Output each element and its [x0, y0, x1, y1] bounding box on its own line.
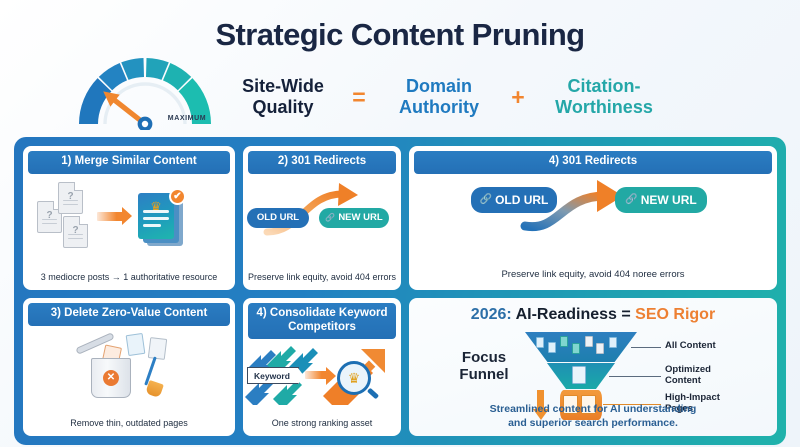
check-badge-icon: ✔: [169, 188, 186, 205]
broom-icon: [145, 380, 164, 398]
funnel-title-year: 2026:: [471, 306, 512, 323]
link-icon: 🔗: [325, 213, 335, 222]
old-url-pill[interactable]: 🔗 OLD URL: [471, 187, 557, 213]
quality-equation: Site-Wide Quality = Domain Authority + C…: [228, 68, 708, 126]
falling-page-icon: [148, 337, 167, 360]
gauge-illustration: MAXIMUM: [70, 58, 220, 130]
old-url-pill[interactable]: OLD URL: [247, 208, 309, 228]
card-301-redirects-small[interactable]: 2) 301 Redirects OLD URL 🔗 NEW URL Prese…: [243, 146, 401, 290]
mini-document-icon: [596, 343, 604, 354]
funnel-title-seo: SEO Rigor: [635, 306, 715, 323]
equation-term-domain-authority: Domain Authority: [380, 76, 498, 118]
equation-term-citation-worthiness: Citation- Worthiness: [538, 76, 670, 118]
card-delete-zero-value-content[interactable]: 3) Delete Zero-Value Content ✕ Remove th…: [23, 298, 235, 436]
new-url-label: NEW URL: [338, 212, 382, 223]
redirect-curve-arrow-icon: [409, 174, 777, 254]
link-icon: 🔗: [625, 194, 637, 205]
keyword-tag[interactable]: Keyword: [247, 367, 299, 384]
redirect-illustration-wide: 🔗 OLD URL 🔗 NEW URL: [409, 174, 777, 269]
keyword-consolidation-illustration: Keyword ♛: [243, 339, 401, 418]
card-title: 2) 301 Redirects: [248, 151, 396, 174]
consolidate-arrow-icon: [305, 371, 327, 379]
card-caption: Remove thin, outdated pages: [23, 418, 235, 436]
strategy-grid-container: 1) Merge Similar Content ? ? ? ♛ ✔: [14, 137, 786, 445]
redirect-illustration: OLD URL 🔗 NEW URL: [243, 174, 401, 273]
mini-document-icon: [585, 336, 593, 347]
card-title: 1) Merge Similar Content: [28, 151, 230, 174]
card-301-redirects-wide[interactable]: 4) 301 Redirects 🔗 OLD URL 🔗 NEW URL Pr: [409, 146, 777, 290]
mini-document-icon: [609, 337, 617, 348]
delete-illustration: ✕: [23, 326, 235, 419]
falling-page-icon: [126, 332, 146, 355]
card-title: 4) Consolidate Keyword Competitors: [248, 303, 396, 339]
doc-lines: [68, 234, 83, 242]
card-caption: Preserve link equity, avoid 404 noree er…: [409, 269, 777, 290]
delete-x-icon: ✕: [103, 370, 119, 386]
new-url-pill[interactable]: 🔗 NEW URL: [319, 208, 389, 228]
card-caption: One strong ranking asset: [243, 418, 401, 436]
crown-icon: ♛: [348, 370, 361, 387]
trash-bin-icon: ✕: [91, 358, 131, 398]
leader-line: [631, 347, 661, 348]
equation-term-site-wide-quality: Site-Wide Quality: [228, 76, 338, 118]
new-url-label: NEW URL: [641, 193, 697, 207]
card-title: 4) 301 Redirects: [414, 151, 772, 174]
link-icon: 🔗: [480, 194, 492, 205]
focus-funnel-label: Focus Funnel: [445, 350, 523, 383]
funnel-label-optimized-content: Optimized Content: [665, 365, 711, 387]
card-consolidate-keyword-competitors[interactable]: 4) Consolidate Keyword Competitors: [243, 298, 401, 436]
card-merge-similar-content[interactable]: 1) Merge Similar Content ? ? ? ♛ ✔: [23, 146, 235, 290]
card-caption: Preserve link equity, avoid 404 errors: [243, 272, 401, 290]
optimized-document-icon: [572, 366, 586, 384]
old-url-label: OLD URL: [257, 212, 299, 223]
gauge-label: MAXIMUM: [152, 115, 222, 122]
funnel-panel-caption: Streamlined content for AI understanding…: [409, 403, 777, 430]
doc-lines: [63, 200, 78, 208]
keyword-label: Keyword: [254, 371, 290, 381]
merge-arrow-icon: [97, 212, 123, 221]
funnel-label-all-content: All Content: [665, 341, 716, 352]
new-url-pill[interactable]: 🔗 NEW URL: [615, 187, 707, 213]
old-url-label: OLD URL: [495, 193, 548, 207]
funnel-panel-title: 2026: AI-Readiness = SEO Rigor: [409, 306, 777, 324]
doc-lines: [143, 210, 169, 231]
magnifier-icon: ♛: [337, 361, 371, 395]
mini-document-icon: [560, 336, 568, 347]
doc-lines: [42, 219, 57, 227]
mini-document-icon: [536, 337, 544, 348]
equation-operator-equals: =: [338, 84, 380, 111]
header: Strategic Content Pruning MAXIMUM Si: [0, 0, 800, 132]
card-caption: 3 mediocre posts → 1 authoritative resou…: [23, 272, 235, 290]
merge-illustration: ? ? ? ♛ ✔: [23, 174, 235, 273]
mini-document-icon: [548, 342, 556, 353]
panel-ai-readiness-funnel: 2026: AI-Readiness = SEO Rigor Focus Fun…: [409, 298, 777, 436]
page-title: Strategic Content Pruning: [0, 17, 800, 53]
leader-line: [609, 376, 661, 377]
equation-operator-plus: +: [498, 84, 538, 111]
gray-document-icon: ?: [58, 182, 83, 214]
card-title: 3) Delete Zero-Value Content: [28, 303, 230, 326]
gray-document-icon: ?: [63, 216, 88, 248]
funnel-title-middle: AI-Readiness =: [512, 306, 635, 323]
mini-document-icon: [572, 343, 580, 354]
